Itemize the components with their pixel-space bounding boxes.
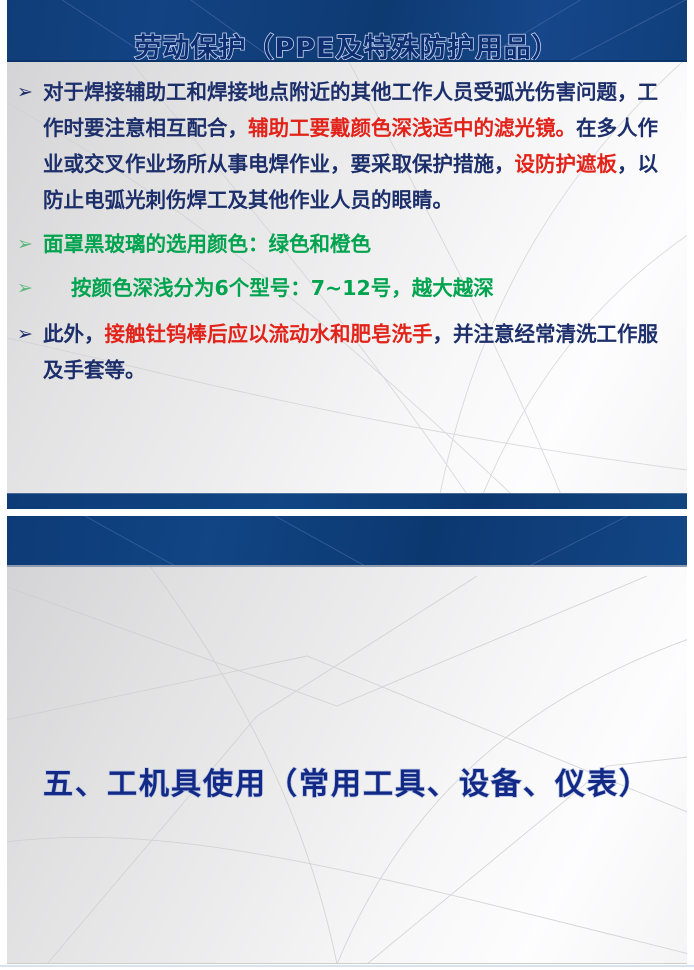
slide-ppe-protection: 劳动保护（PPE及特殊防护用品） ➢ 对于焊接辅助工和焊接地点附近的其他工作人员… bbox=[7, 0, 687, 509]
page-title: 劳动保护（PPE及特殊防护用品） bbox=[7, 26, 687, 62]
list-item: ➢ 面罩黑玻璃的选用颜色：绿色和橙色 bbox=[17, 226, 673, 262]
list-item: ➢ 对于焊接辅助工和焊接地点附近的其他工作人员受弧光伤害问题，工作时要注意相互配… bbox=[17, 74, 673, 218]
band-rule bbox=[7, 565, 687, 567]
bullet-text: 对于焊接辅助工和焊接地点附近的其他工作人员受弧光伤害问题，工作时要注意相互配合，… bbox=[43, 74, 673, 218]
title-bar-rule bbox=[7, 60, 687, 62]
slide-section-divider: 五、工机具使用（常用工具、设备、仪表） bbox=[7, 516, 687, 964]
bullet-text: 面罩黑玻璃的选用颜色：绿色和橙色 bbox=[43, 226, 673, 262]
bullet-arrow-icon: ➢ bbox=[17, 270, 43, 306]
bullet-arrow-icon: ➢ bbox=[17, 74, 43, 110]
page-bottom-rule bbox=[0, 965, 694, 967]
bullet-text: 此外，接触钍钨棒后应以流动水和肥皂洗手，并注意经常清洗工作服及手套等。 bbox=[43, 316, 673, 388]
bullet-text: 按颜色深浅分为6个型号：7~12号，越大越深 bbox=[43, 270, 673, 306]
text-segment-emphasis: 接触钍钨棒后应以流动水和肥皂洗手 bbox=[105, 322, 433, 346]
slide-top-band bbox=[7, 516, 687, 567]
list-item: ➢ 此外，接触钍钨棒后应以流动水和肥皂洗手，并注意经常清洗工作服及手套等。 bbox=[17, 316, 673, 388]
bullet-arrow-icon: ➢ bbox=[17, 226, 43, 262]
list-item: ➢ 按颜色深浅分为6个型号：7~12号，越大越深 bbox=[17, 270, 673, 306]
band-highlight bbox=[7, 493, 687, 494]
slide-bottom-band bbox=[7, 493, 687, 509]
slide-body: ➢ 对于焊接辅助工和焊接地点附近的其他工作人员受弧光伤害问题，工作时要注意相互配… bbox=[7, 64, 687, 493]
slide-bottom-edge bbox=[7, 963, 687, 964]
slide-deck: 劳动保护（PPE及特殊防护用品） ➢ 对于焊接辅助工和焊接地点附近的其他工作人员… bbox=[0, 0, 694, 970]
bullet-arrow-icon: ➢ bbox=[17, 316, 43, 352]
slide-title-bar: 劳动保护（PPE及特殊防护用品） bbox=[7, 0, 687, 62]
section-title: 五、工机具使用（常用工具、设备、仪表） bbox=[7, 759, 687, 803]
text-segment: 此外， bbox=[43, 322, 105, 346]
text-segment: 面罩黑玻璃的选用颜色：绿色和橙色 bbox=[43, 232, 371, 256]
text-segment-emphasis: 设防护遮板 bbox=[515, 152, 618, 176]
text-segment-emphasis: 辅助工要戴颜色深浅适中的滤光镜。 bbox=[248, 116, 576, 140]
background-pattern bbox=[7, 516, 687, 964]
text-segment: 按颜色深浅分为6个型号：7~12号，越大越深 bbox=[71, 276, 494, 300]
